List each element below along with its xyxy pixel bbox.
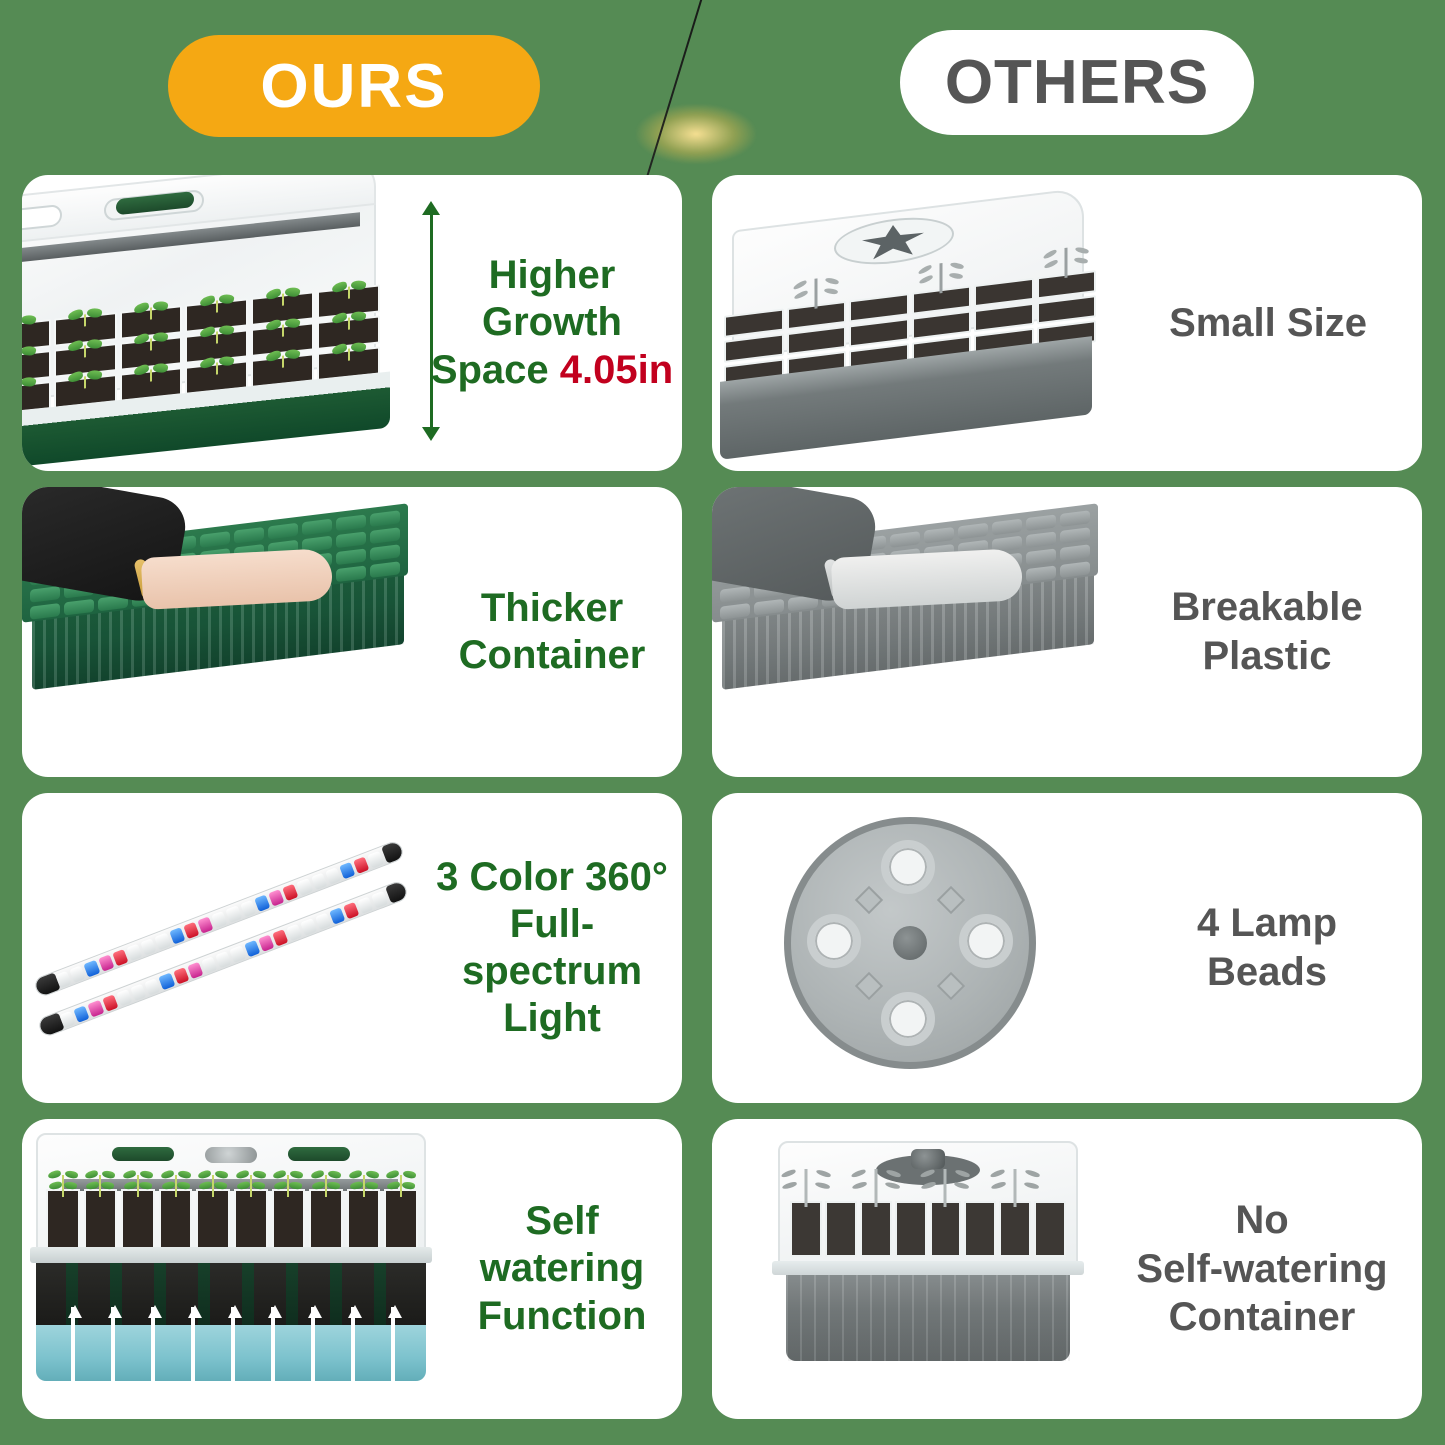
gray-base-tray	[786, 1275, 1070, 1361]
growth-space-value: 4.05in	[560, 348, 673, 392]
water-flow-arrow-icon	[308, 1307, 318, 1381]
seedling-icon	[22, 343, 34, 366]
others-badge: OTHERS	[900, 30, 1254, 135]
gray-seedling-icon	[863, 1169, 889, 1207]
seedling-icon	[136, 360, 166, 383]
water-flow-arrow-icon	[68, 1307, 78, 1381]
caption-others-row2: Breakable Plastic	[1112, 487, 1422, 777]
seedling-icon	[268, 284, 298, 307]
art-hand-pressing-green-tray	[22, 487, 422, 777]
seedling-icon	[238, 1169, 264, 1199]
seedling-icon	[275, 1169, 301, 1199]
art-hand-pressing-gray-tray	[712, 487, 1112, 777]
vs-letter-v: V	[602, 30, 687, 170]
caption-line-1: Thicker	[459, 585, 646, 632]
gray-seedling-icon	[932, 1169, 958, 1207]
water-flow-arrow-icon	[108, 1307, 118, 1381]
caption-others-row1: Small Size	[1114, 175, 1422, 471]
tray-cell-column	[1034, 1201, 1066, 1257]
rib-texture	[786, 1275, 1070, 1361]
vent-knob-green	[112, 1147, 174, 1161]
seedling-icon	[202, 322, 232, 345]
seedling-icon	[313, 1169, 339, 1199]
seedling-icon	[22, 374, 34, 397]
seedling-icon	[268, 315, 298, 338]
caption-line-2: Growth	[431, 299, 673, 346]
seedling-icon	[334, 339, 364, 362]
seedling-icon	[70, 336, 100, 359]
seedling-icon	[202, 291, 232, 314]
comparison-infographic: OURS V S OTHERS	[0, 0, 1445, 1445]
caption-line-2: Plastic	[1171, 632, 1362, 681]
caption-line-1: No	[1136, 1196, 1387, 1245]
water-flow-arrow-icon	[268, 1307, 278, 1381]
card-others-breakable-plastic: Breakable Plastic	[712, 487, 1422, 777]
card-ours-full-spectrum-light: 3 Color 360° Full-spectrum Light	[22, 793, 682, 1103]
diamond-icon	[855, 972, 883, 1000]
caption-line-3: Function	[478, 1293, 647, 1340]
cell-tray-gray	[790, 1201, 1066, 1257]
caption-line-1: Small Size	[1169, 299, 1367, 348]
seedling-icon	[136, 298, 166, 321]
tray-cell-column	[121, 1189, 155, 1249]
ours-badge-label: OURS	[260, 51, 447, 122]
water-flow-arrow-icon	[388, 1307, 398, 1381]
tray-cell-column	[825, 1201, 857, 1257]
caption-line-3: Space 4.05in	[431, 347, 673, 394]
measure-line	[430, 209, 433, 433]
diamond-icon	[855, 886, 883, 914]
caption-ours-row4: Self watering Function	[442, 1119, 682, 1419]
gray-seedling-icon	[793, 1169, 819, 1207]
water-flow-arrow-icon	[148, 1307, 158, 1381]
lamp-bead-icon	[959, 914, 1013, 968]
tray-cell-column	[234, 1189, 268, 1249]
header: OURS V S OTHERS	[0, 0, 1445, 175]
seedling-icon	[334, 277, 364, 300]
caption-line-1: Self	[478, 1198, 647, 1245]
water-flow-arrow-icon	[348, 1307, 358, 1381]
tray-lip	[772, 1261, 1084, 1275]
vent-knob-gray	[911, 1149, 945, 1169]
caption-line-2: Full-spectrum	[430, 901, 674, 995]
tray-cell	[787, 326, 847, 355]
tray-cell	[912, 311, 972, 340]
caption-others-row3: 4 Lamp Beads	[1112, 793, 1422, 1103]
caption-line-1: Higher	[431, 252, 673, 299]
card-ours-thicker-container: Thicker Container	[22, 487, 682, 777]
caption-line-2: Self-watering	[1136, 1245, 1387, 1294]
caption-line-1: 4 Lamp	[1197, 899, 1337, 948]
art-lamp-bead-disc	[712, 793, 1112, 1103]
tray-cell-column	[895, 1201, 927, 1257]
disc-center-hub	[893, 926, 927, 960]
seedling-icon	[163, 1169, 189, 1199]
tray-cell-column	[196, 1189, 230, 1249]
gray-seedling-icon	[804, 277, 828, 310]
caption-line-1: Breakable	[1171, 583, 1362, 632]
vent-knob-green	[288, 1147, 350, 1161]
caption-line-3: Light	[430, 995, 674, 1042]
tray-cell-column	[860, 1201, 892, 1257]
art-short-dome-gray-tray	[724, 175, 1114, 471]
seedling-icon	[87, 1169, 113, 1199]
tray-cell	[724, 334, 784, 363]
caption-line-3: Container	[1136, 1293, 1387, 1342]
vent-hole-left	[22, 204, 62, 233]
tray-cell-column	[46, 1189, 80, 1249]
card-others-no-self-watering: No Self-watering Container	[712, 1119, 1422, 1419]
arrow-down-icon	[422, 427, 440, 441]
caption-line-2: Container	[459, 632, 646, 679]
cell-tray-with-seedlings	[46, 1189, 418, 1249]
art-self-watering-cross-section	[22, 1119, 442, 1419]
lamp-bead-icon	[881, 840, 935, 894]
tray-cell-column	[347, 1189, 381, 1249]
vent-knob-gray	[205, 1147, 257, 1163]
lamp-disc	[784, 817, 1036, 1069]
height-measure-arrow	[420, 201, 442, 441]
seedling-icon	[388, 1169, 414, 1199]
caption-ours-row3: 3 Color 360° Full-spectrum Light	[422, 793, 682, 1103]
seedling-icon	[22, 312, 34, 335]
tray-cell-column	[790, 1201, 822, 1257]
gray-seedling-icon	[1002, 1169, 1028, 1207]
caption-line-2: Beads	[1197, 948, 1337, 997]
diamond-icon	[937, 886, 965, 914]
tray-cell-column	[272, 1189, 306, 1249]
tray-cell	[1037, 295, 1097, 324]
tray-cell-column	[159, 1189, 193, 1249]
card-ours-growth-space: Higher Growth Space 4.05in	[22, 175, 682, 471]
seedling-icon	[351, 1169, 377, 1199]
seedling-icon	[125, 1169, 151, 1199]
caption-ours-row2: Thicker Container	[422, 487, 682, 777]
tray-cell	[849, 318, 909, 347]
tray-cell-column	[384, 1189, 418, 1249]
seedling-icon	[50, 1169, 76, 1199]
caption-line-2: watering	[478, 1245, 647, 1292]
lamp-bead-icon	[881, 992, 935, 1046]
tray-cell-column	[930, 1201, 962, 1257]
card-others-four-lamp-beads: 4 Lamp Beads	[712, 793, 1422, 1103]
tray-cell-column	[999, 1201, 1031, 1257]
water-flow-arrow-icon	[188, 1307, 198, 1381]
gray-seedling-icon	[1054, 246, 1078, 279]
caption-others-row4: No Self-watering Container	[1102, 1119, 1422, 1419]
tray-cell-column	[964, 1201, 996, 1257]
others-badge-label: OTHERS	[945, 47, 1209, 118]
ours-badge: OURS	[168, 35, 540, 137]
gray-seedling-icon	[929, 262, 953, 295]
diamond-icon	[937, 972, 965, 1000]
seedling-icon	[202, 353, 232, 376]
card-ours-self-watering: Self watering Function	[22, 1119, 682, 1419]
caption-ours-row1: Higher Growth Space 4.05in	[422, 175, 682, 471]
tray-cell-column	[84, 1189, 118, 1249]
tray-lip	[30, 1247, 432, 1263]
hand	[141, 548, 333, 610]
art-tall-dome-seed-tray	[22, 175, 422, 471]
card-others-small-size: Small Size	[712, 175, 1422, 471]
hand	[831, 548, 1023, 610]
water-flow-arrow-icon	[228, 1307, 238, 1381]
seedling-icon	[70, 305, 100, 328]
art-led-grow-light-strips	[22, 793, 422, 1103]
art-gray-tray-no-reservoir	[742, 1119, 1102, 1419]
lamp-bead-icon	[807, 914, 861, 968]
tray-cell	[974, 303, 1034, 332]
seedling-icon	[136, 329, 166, 352]
seedling-icon	[334, 308, 364, 331]
tray-cell-column	[309, 1189, 343, 1249]
seedling-icon	[268, 346, 298, 369]
caption-line-1: 3 Color 360°	[430, 854, 674, 901]
comparison-grid: Higher Growth Space 4.05in	[0, 175, 1445, 1445]
caption-line-3-prefix: Space	[431, 348, 560, 392]
seedling-icon	[200, 1169, 226, 1199]
seedling-icon	[70, 367, 100, 390]
